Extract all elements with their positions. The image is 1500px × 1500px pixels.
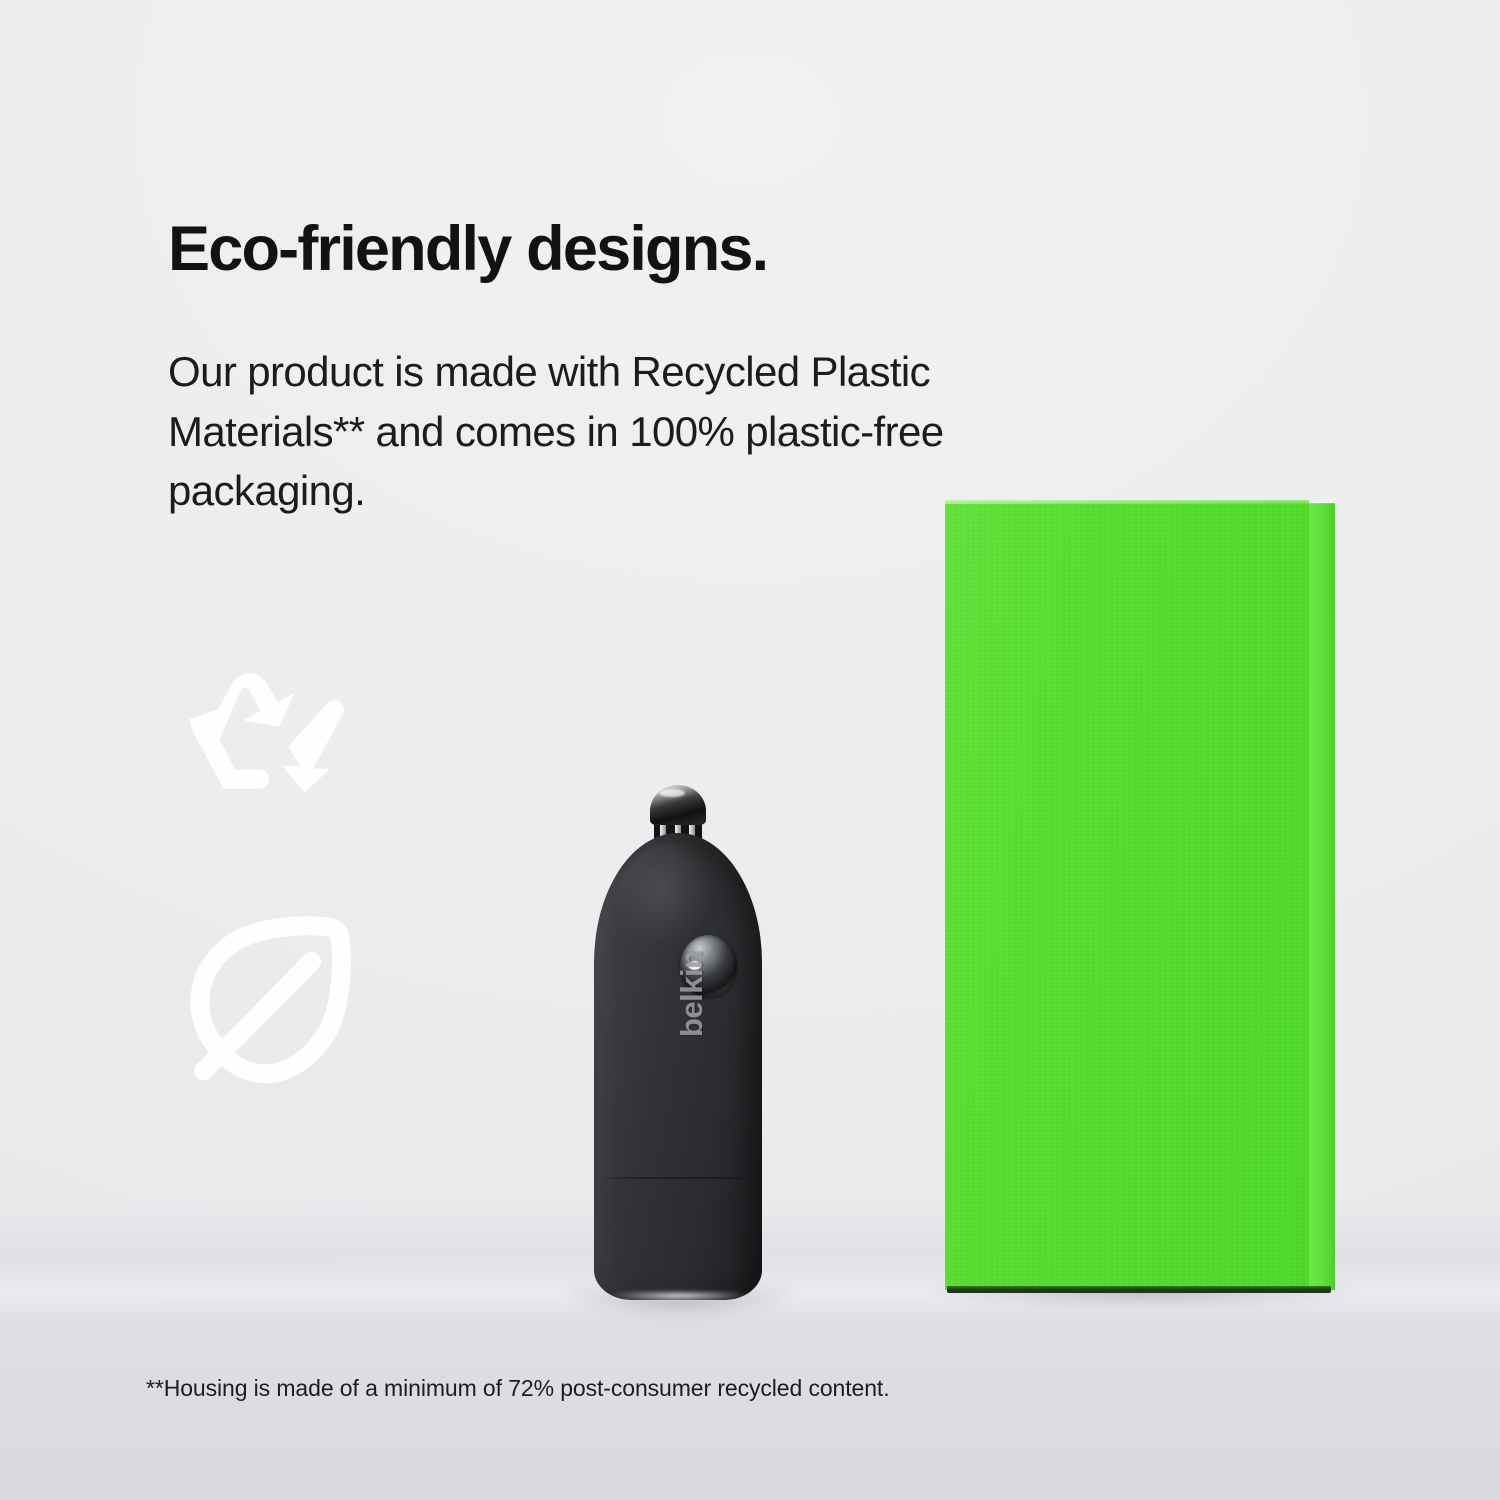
packaging-box-top-edge [945,500,1335,504]
brand-wordmark: belkin [674,857,710,1037]
packaging-box-side-face [1309,503,1335,1290]
page-title: Eco-friendly designs. [168,218,767,281]
subheadline-copy: Our product is made with Recycled Plasti… [168,342,1068,521]
charger-seam-line [596,1177,760,1179]
leaf-icon [182,905,362,1095]
charger-tip-dome [650,785,706,825]
footnote-disclaimer: **Housing is made of a minimum of 72% po… [146,1375,890,1402]
product-car-charger: belkin [588,785,768,1300]
product-marketing-image: Eco-friendly designs. Our product is mad… [0,0,1500,1500]
packaging-box-bottom-edge [947,1286,1331,1293]
recycle-icon [178,618,353,808]
packaging-box-front-face [945,500,1309,1290]
packaging-box [945,500,1335,1290]
